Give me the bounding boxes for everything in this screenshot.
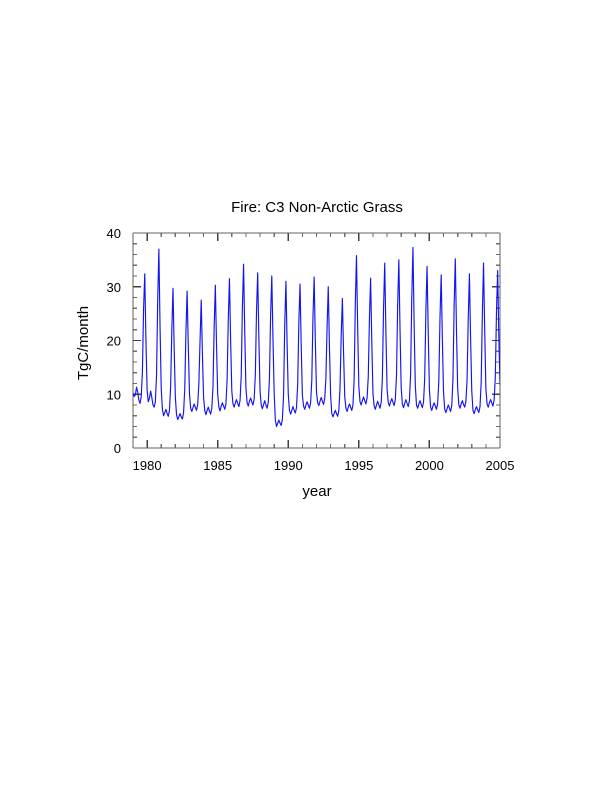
x-tick-label: 2000 [415,458,444,473]
x-tick-label: 1990 [274,458,303,473]
x-tick-label: 1985 [203,458,232,473]
y-tick-label: 30 [107,280,121,295]
y-tick-label: 20 [107,334,121,349]
x-axis-label: year [302,483,331,500]
x-tick-label: 1980 [133,458,162,473]
y-axis-label: TgC/month [75,306,92,380]
x-tick-label: 1995 [344,458,373,473]
y-tick-label: 40 [107,226,121,241]
x-tick-label: 2005 [486,458,515,473]
figure-canvas: Fire: C3 Non-Arctic Grass year TgC/month… [0,0,612,792]
chart-title: Fire: C3 Non-Arctic Grass [231,199,403,216]
y-tick-label: 10 [107,387,121,402]
page-background [0,0,612,792]
y-tick-label: 0 [114,441,121,456]
